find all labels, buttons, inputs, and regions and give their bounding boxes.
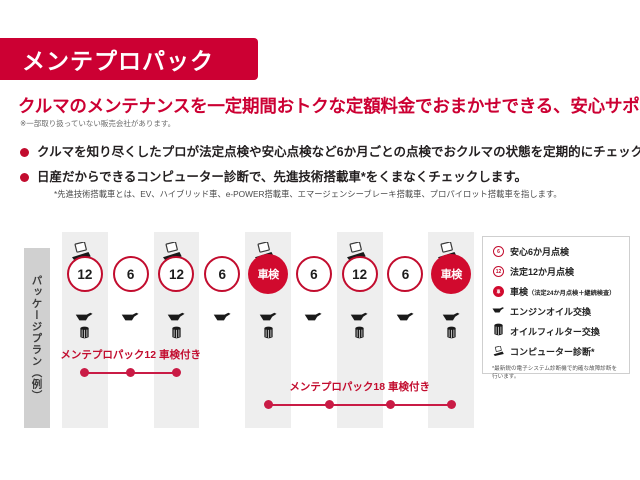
timeline-marker-label: 12: [352, 267, 367, 282]
oil-filter-icon: [171, 326, 182, 340]
plan-range-line: [268, 404, 451, 406]
timeline-marker-safety[interactable]: 6: [296, 256, 332, 292]
bullet-text: クルマを知り尽くしたプロが法定点検や安心点検など6か月ごとの点検でおクルマの状態…: [37, 145, 640, 161]
timeline-service-icons: [383, 312, 429, 326]
plan-name-label: メンテプロパック12 車検付き: [60, 347, 201, 362]
timeline-marker-shaken[interactable]: 車検: [431, 254, 471, 294]
legend-item: 6安心6か月点検: [492, 245, 621, 258]
timeline-marker-label: 車検: [441, 266, 462, 282]
oil-can-icon: [213, 312, 232, 323]
timeline-slot[interactable]: 12: [62, 248, 108, 310]
plan-range-bar[interactable]: メンテプロパック18 車検付き: [268, 392, 451, 418]
package-plan-label-text: パッケージプラン（例）: [30, 275, 45, 402]
ring-legal-icon: 12: [492, 265, 505, 278]
timeline-service-icons: [245, 312, 291, 343]
timeline-slot[interactable]: 6: [199, 248, 245, 310]
timeline-slot[interactable]: 6: [291, 248, 337, 310]
timeline-slot[interactable]: 車検: [428, 248, 474, 310]
package-plan-label: パッケージプラン（例）: [24, 248, 50, 428]
ring-safety-icon: 6: [492, 245, 505, 258]
oil-filter-icon: [263, 326, 274, 340]
oil-can-icon: [396, 312, 415, 323]
plan-range-dot: [126, 368, 135, 377]
legend-footnote: *最新鋭の電子システム診断機で的確な故障診断を行います。: [492, 365, 621, 381]
legend-item: 車車検（法定24か月点検＋継続検査）: [492, 285, 621, 298]
bullet-item: クルマを知り尽くしたプロが法定点検や安心点検など6か月ごとの点検でおクルマの状態…: [20, 145, 630, 161]
subtitle-note: ※一部取り扱っていない販売会社があります。: [20, 118, 175, 129]
timeline-marker-legal[interactable]: 12: [67, 256, 103, 292]
oil-can-icon: [442, 312, 461, 323]
timeline-marker-label: 車検: [258, 266, 279, 282]
plan-range-dot: [172, 368, 181, 377]
plan-name-label: メンテプロパック18 車検付き: [289, 379, 430, 394]
timeline-marker-label: 12: [77, 267, 92, 282]
infographic-page: メンテプロパック クルマのメンテナンスを一定期間おトクな定額料金でおまかせできる…: [0, 0, 640, 480]
subtitle: クルマのメンテナンスを一定期間おトクな定額料金でおまかせできる、安心サポートプラ…: [18, 93, 628, 118]
ring-shaken-icon: 車: [492, 285, 505, 298]
oil-can-icon: [167, 312, 186, 323]
timeline-slot[interactable]: 6: [383, 248, 429, 310]
oil-can-icon: [304, 312, 323, 323]
legend-label: コンピューター診断*: [510, 345, 595, 358]
plan-range-dot: [386, 400, 395, 409]
timeline-service-icons: [428, 312, 474, 343]
legend-item: 12法定12か月点検: [492, 265, 621, 278]
timeline-marker-label: 6: [402, 267, 410, 282]
plan-range-dot: [80, 368, 89, 377]
legend-label: エンジンオイル交換: [510, 305, 591, 318]
legend-item: エンジンオイル交換: [492, 305, 621, 318]
legend-label: オイルフィルター交換: [510, 325, 600, 338]
legend-label: 車検（法定24か月点検＋継続検査）: [510, 285, 615, 298]
computer-icon: [492, 345, 505, 358]
plan-range-dot: [447, 400, 456, 409]
timeline-circles: 126126車検6126車検: [62, 248, 474, 310]
legend-sublabel: （法定24か月点検＋継続検査）: [528, 290, 615, 297]
timeline-slot[interactable]: 6: [108, 248, 154, 310]
oil-can-icon: [259, 312, 278, 323]
timeline-service-icons: [108, 312, 154, 326]
title-banner: メンテプロパック: [0, 38, 258, 80]
plan-range-bar[interactable]: メンテプロパック12 車検付き: [85, 360, 177, 386]
oil-filter-icon: [446, 326, 457, 340]
oil-filter-icon: [492, 325, 505, 338]
timeline-marker-shaken[interactable]: 車検: [248, 254, 288, 294]
legend-label: 安心6か月点検: [510, 245, 569, 258]
timeline-marker-label: 6: [310, 267, 318, 282]
timeline-service-icons: [62, 312, 108, 343]
bullet-dot-icon: [20, 148, 29, 157]
timeline-service-icons: [154, 312, 200, 343]
timeline-marker-label: 6: [127, 267, 135, 282]
bullet-list: クルマを知り尽くしたプロが法定点検や安心点検など6か月ごとの点検でおクルマの状態…: [20, 145, 630, 209]
bullet-dot-icon: [20, 173, 29, 182]
timeline-service-icons: [199, 312, 245, 326]
plan-range-dot: [264, 400, 273, 409]
timeline-service-icons: [337, 312, 383, 343]
timeline-marker-label: 12: [169, 267, 184, 282]
timeline-marker-safety[interactable]: 6: [204, 256, 240, 292]
timeline-marker-legal[interactable]: 12: [158, 256, 194, 292]
oil-filter-icon: [79, 326, 90, 340]
plan-range-dot: [325, 400, 334, 409]
oil-can-icon: [121, 312, 140, 323]
page-title: メンテプロパック: [0, 42, 214, 76]
timeline-slot[interactable]: 12: [337, 248, 383, 310]
legend-label: 法定12か月点検: [510, 265, 574, 278]
timeline-marker-label: 6: [219, 267, 227, 282]
timeline-service-icons: [291, 312, 337, 326]
timeline-marker-safety[interactable]: 6: [387, 256, 423, 292]
bullet-footnote: *先進技術搭載車とは、EV、ハイブリッド車、e-POWER搭載車、エマージェンシ…: [54, 188, 562, 200]
legend-item: オイルフィルター交換: [492, 325, 621, 338]
oil-can-icon: [492, 305, 505, 318]
timeline-slot[interactable]: 12: [154, 248, 200, 310]
timeline-marker-safety[interactable]: 6: [113, 256, 149, 292]
oil-can-icon: [75, 312, 94, 323]
legend-panel: 6安心6か月点検12法定12か月点検車車検（法定24か月点検＋継続検査）エンジン…: [482, 236, 630, 374]
oil-filter-icon: [354, 326, 365, 340]
timeline-marker-legal[interactable]: 12: [342, 256, 378, 292]
bullet-item: 日産だからできるコンピューター診断で、先進技術搭載車*をくまなくチェックします。…: [20, 170, 630, 201]
oil-can-icon: [350, 312, 369, 323]
legend-item: コンピューター診断*: [492, 345, 621, 358]
timeline-slot[interactable]: 車検: [245, 248, 291, 310]
bullet-text: 日産だからできるコンピューター診断で、先進技術搭載車*をくまなくチェックします。: [37, 170, 562, 186]
